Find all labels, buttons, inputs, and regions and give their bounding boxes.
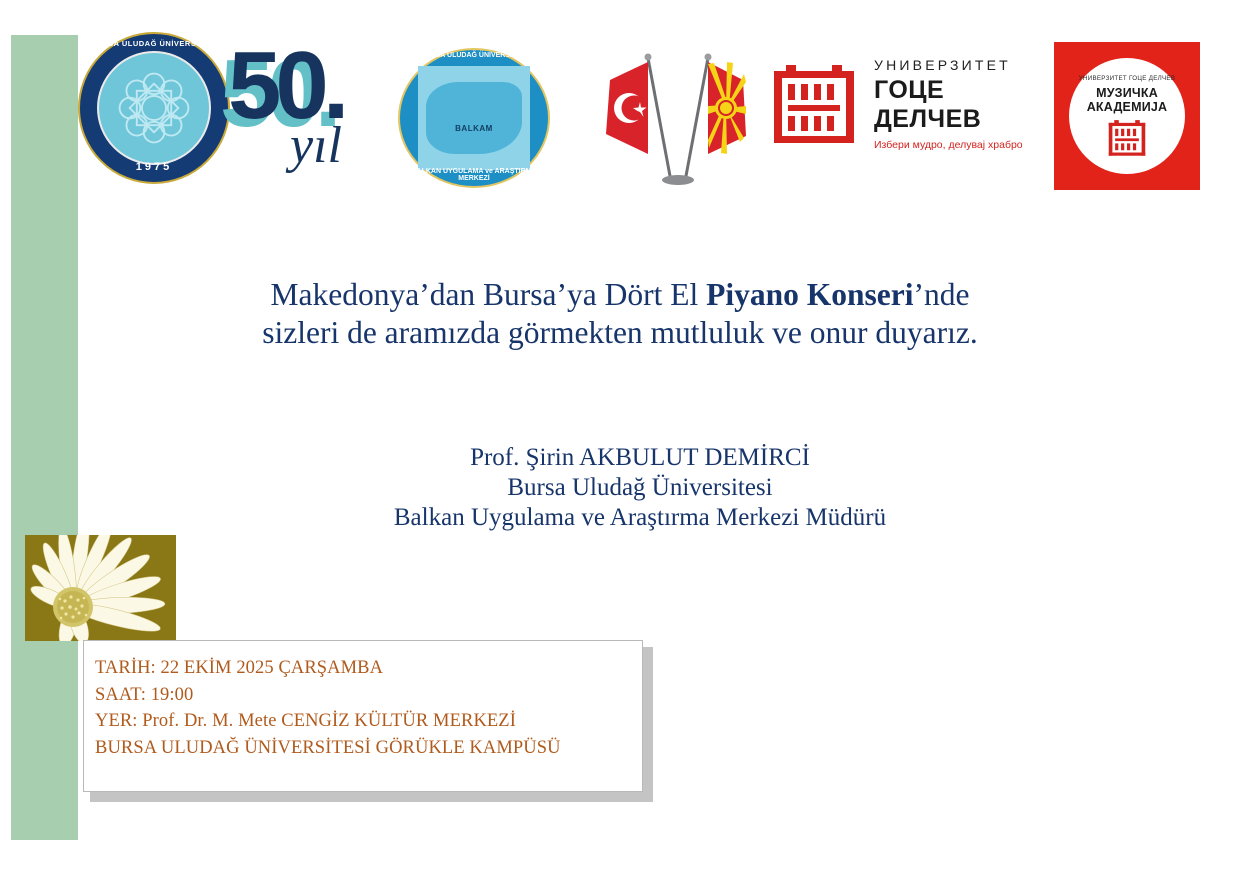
daisy-flower-photo [25,535,176,641]
seal-inner-disc [97,51,211,165]
academy-building-mark-icon [1106,116,1148,158]
signature-block: Prof. Şirin AKBULUT DEMİRCİ Bursa Uludağ… [190,443,1090,533]
ugd-wordmark-text: УНИВЕРЗИТЕТ ГОЦЕ ДЕЛЧЕВ Избери мудро, де… [874,57,1046,151]
signature-name: Prof. Şirin AKBULUT DEMİRCİ [190,443,1090,473]
academy-line2: МУЗИЧКА АКАДЕМИЈА [1054,86,1200,114]
seal-top-text: BURSA ULUDAĞ ÜNİVERSİTESİ [78,39,230,48]
balkam-top-text: BURSA ULUDAĞ ÜNİVERSİTESİ [398,52,550,59]
anniversary-word: yıl [290,116,342,175]
event-venue: YER: Prof. Dr. M. Mete CENGİZ KÜLTÜR MER… [95,708,634,735]
50-yil-anniversary-logo-icon: 50. 50. yıl [228,38,388,178]
event-details-box: TARİH: 22 EKİM 2025 ÇARŞAMBA SAAT: 19:00… [83,640,643,792]
signature-title: Balkan Uygulama ve Araştırma Merkezi Müd… [190,503,1090,533]
academy-line1: УНИВЕРЗИТЕТ ГОЦЕ ДЕЛЧЕВ [1054,75,1200,82]
event-campus: BURSA ULUDAĞ ÜNİVERSİTESİ GÖRÜKLE KAMPÜS… [95,735,634,762]
headline-line1-suffix: ’nde [914,277,970,312]
goce-delcev-university-logo-icon: УНИВЕРЗИТЕТ ГОЦЕ ДЕЛЧЕВ Избери мудро, де… [768,55,1046,151]
bursa-uludag-universitesi-seal-icon: BURSA ULUDAĞ ÜNİVERSİTESİ 1975 [78,32,230,184]
logo-strip: BURSA ULUDAĞ ÜNİVERSİTESİ 1975 50. 50. y… [0,0,1240,205]
signature-institution: Bursa Uludağ Üniversitesi [190,473,1090,503]
ugd-line2: ГОЦЕ ДЕЛЧЕВ [874,76,1046,134]
headline-line2: sizleri de aramızda görmekten mutluluk v… [262,315,978,350]
seal-year-text: 1975 [78,161,230,173]
ugd-line1: УНИВЕРЗИТЕТ [874,57,1046,73]
ugd-tagline: Избери мудро, делувај храбро [874,139,1046,151]
balkam-center-label: BALKAM [418,124,530,133]
balkam-map-shape-icon [426,82,522,154]
headline-line1-bold: Piyano Konseri [706,277,913,312]
balkam-bottom-text: BALKAN UYGULAMA ve ARAŞTIRMA MERKEZİ [398,168,550,182]
invitation-slide: BURSA ULUDAĞ ÜNİVERSİTESİ 1975 50. 50. y… [0,0,1240,874]
headline-line1-prefix: Makedonya’dan Bursa’ya Dört El [271,277,707,312]
muzicka-akademija-logo-icon: УНИВЕРЗИТЕТ ГОЦЕ ДЕЛЧЕВ МУЗИЧКА АКАДЕМИЈ… [1054,42,1200,190]
balkam-seal-icon: BALKAM BURSA ULUDAĞ ÜNİVERSİTESİ BALKAN … [398,48,550,188]
event-time: SAAT: 19:00 [95,682,634,709]
seal-octagram-pattern-icon [111,65,197,151]
event-date: TARİH: 22 EKİM 2025 ÇARŞAMBA [95,655,634,682]
event-details-list: TARİH: 22 EKİM 2025 ÇARŞAMBA SAAT: 19:00… [95,655,634,761]
ugd-building-mark-icon [768,57,860,147]
invitation-headline: Makedonya’dan Bursa’ya Dört El Piyano Ko… [150,276,1090,352]
balkam-inner-panel: BALKAM [418,66,530,170]
turkey-north-macedonia-flags-icon [596,50,756,190]
